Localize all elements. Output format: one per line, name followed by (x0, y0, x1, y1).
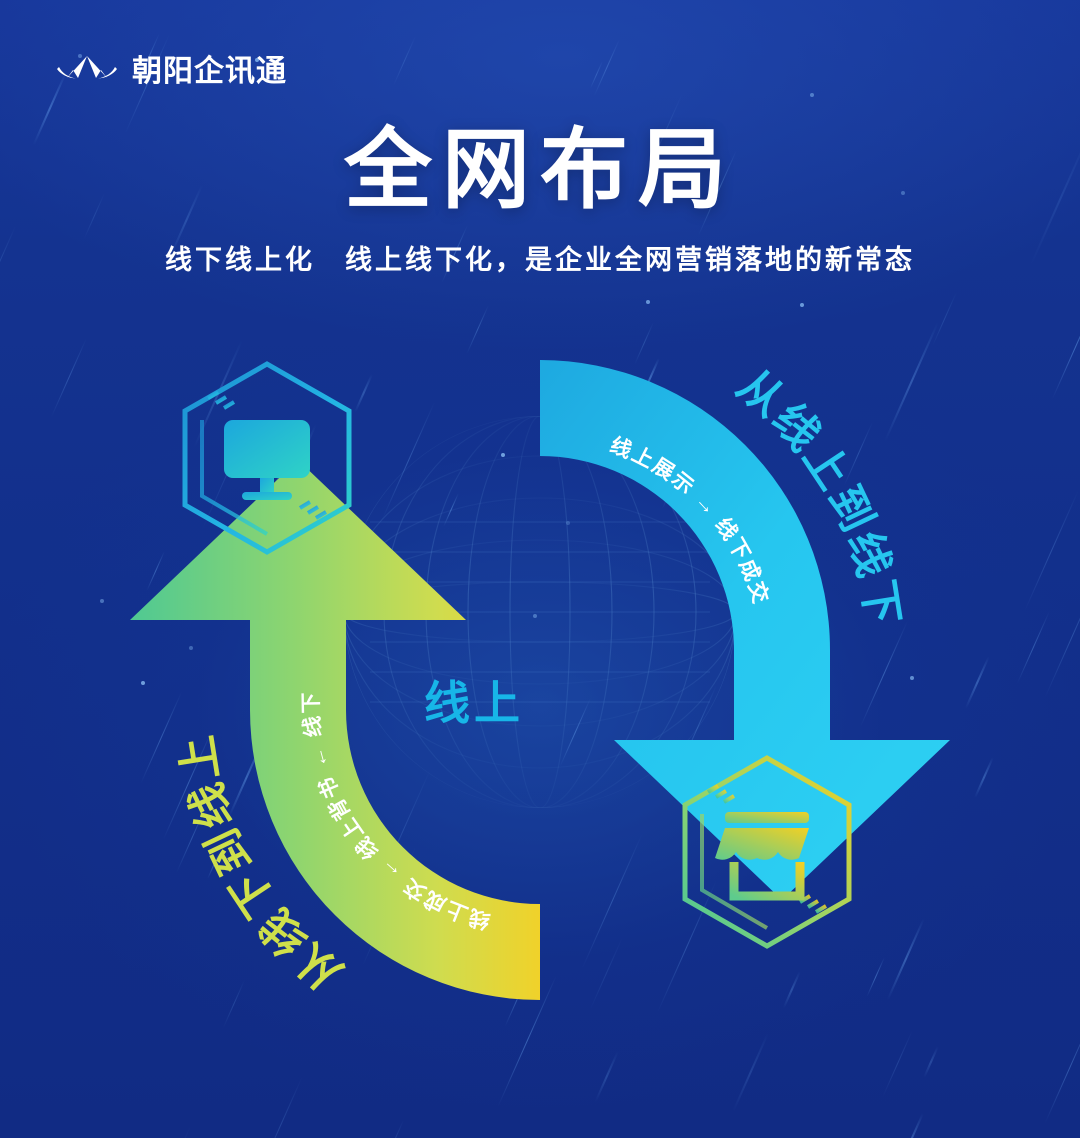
node-label-online: 线上 (424, 667, 524, 733)
poster-canvas: 朝阳企讯通 全网布局 线下线上化 线上线下化，是企业全网营销落地的新常态 (0, 0, 1080, 1138)
page-subtitle: 线下线上化 线上线下化，是企业全网营销落地的新常态 (0, 238, 1080, 277)
cycle-diagram: 从线上到线下 线上展示 → 线下成交 从线下到线上 线上成交 ← 线上背书 ← … (0, 300, 1080, 1060)
brand-logo[interactable]: 朝阳企讯通 (56, 46, 287, 90)
brand-name: 朝阳企讯通 (132, 46, 287, 90)
cycle-arrows-and-badges: 从线上到线下 线上展示 → 线下成交 从线下到线上 线上成交 ← 线上背书 ← … (0, 300, 1080, 1060)
page-title: 全网布局 (0, 124, 1080, 216)
mountain-m-logo-icon (56, 51, 118, 85)
